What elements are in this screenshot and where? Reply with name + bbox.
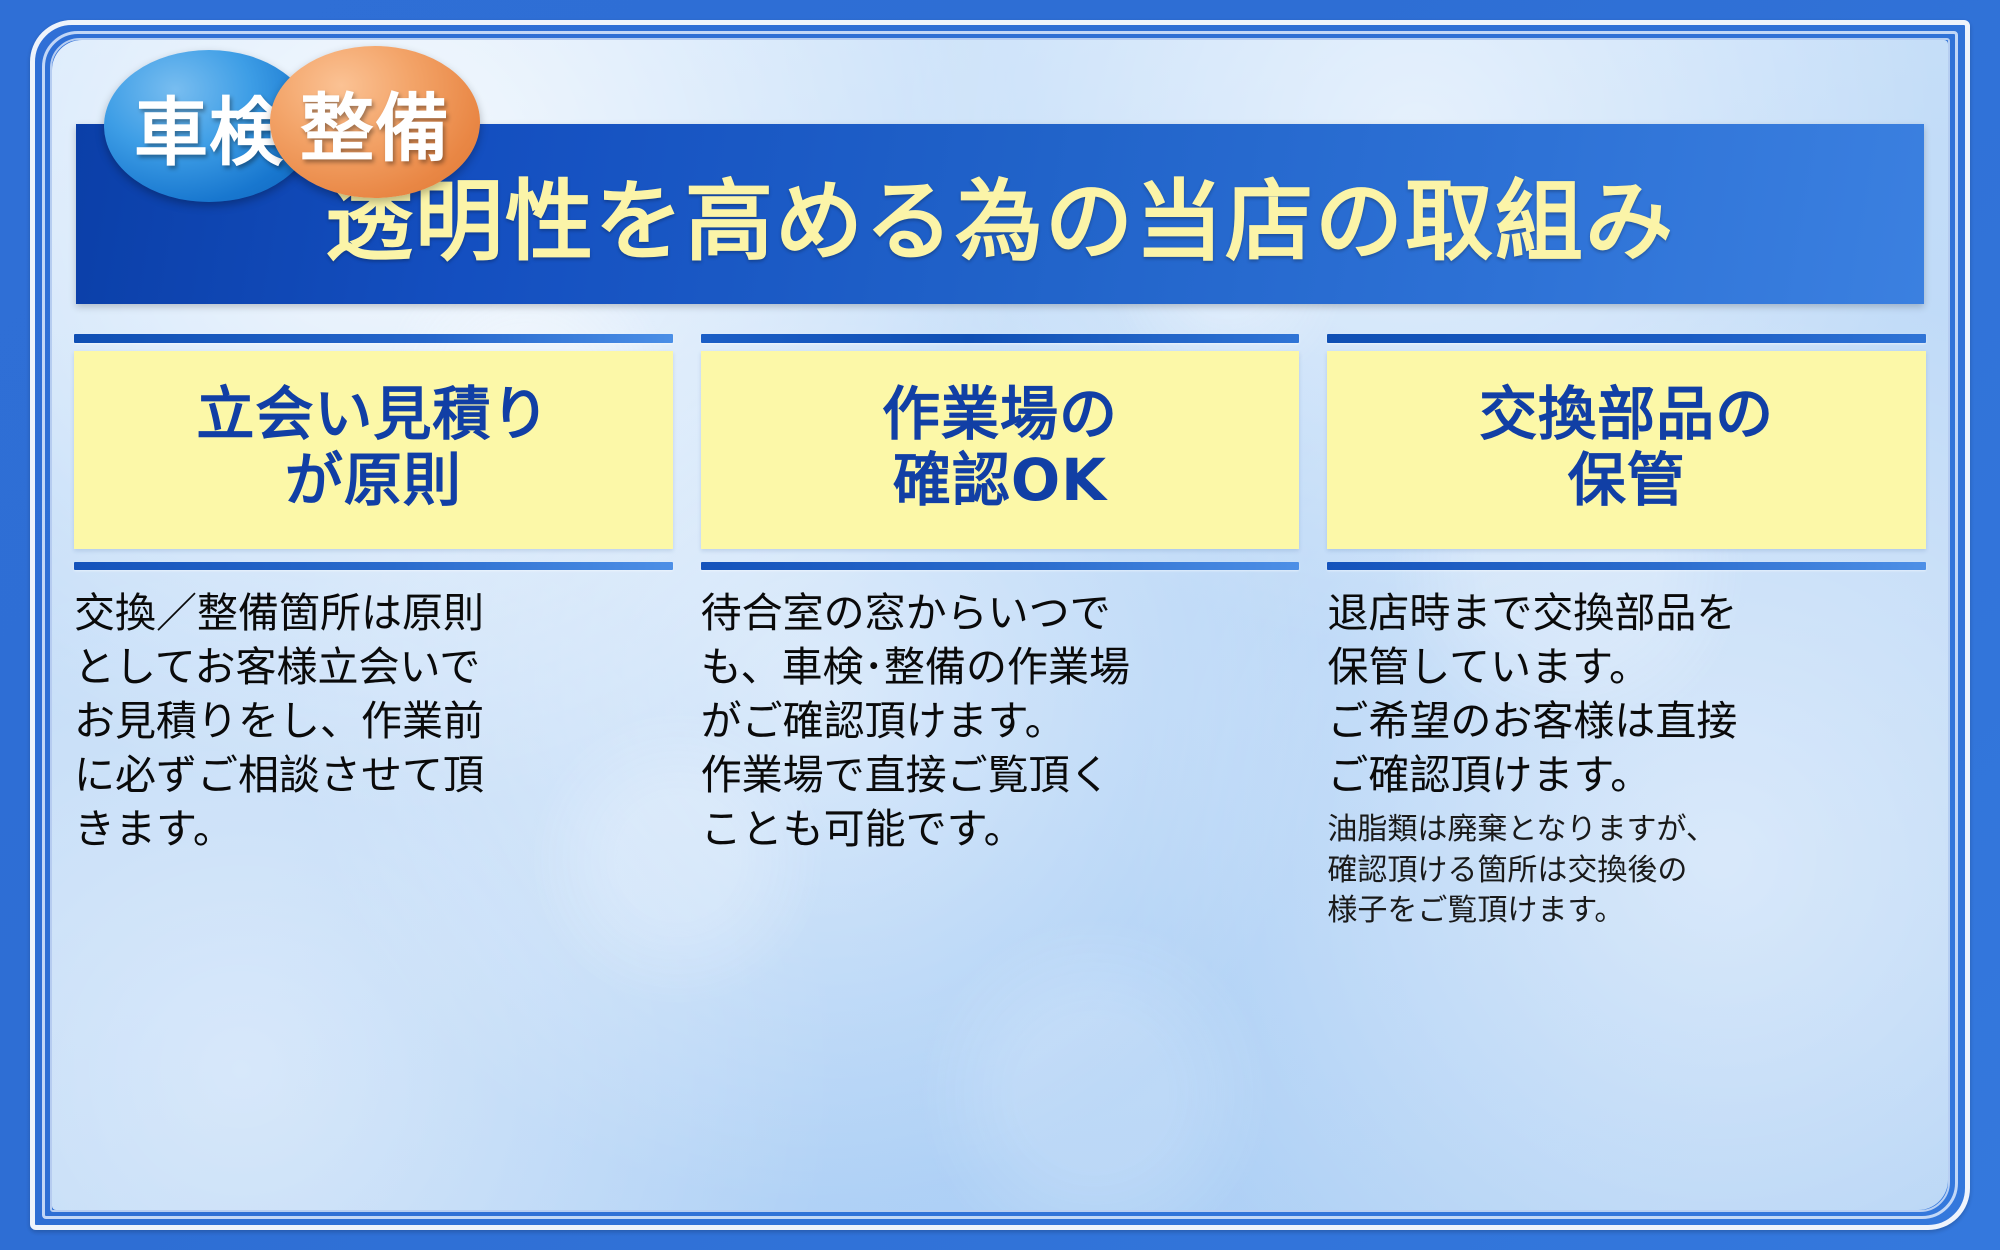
body-line-3-3: ご希望のお客様は直接 [1327, 694, 1926, 748]
poster-root: 透明性を高める為の当店の取組み 車検 整備 立会い見積り が原則 交換／整備箇所… [0, 0, 2000, 1250]
headline-box-1: 立会い見積り が原則 [74, 351, 673, 549]
headline-line-2-2: 確認OK [893, 447, 1107, 513]
body-line-2-1: 待合室の窓からいつで [701, 586, 1300, 640]
body-line-1-4: に必ずご相談させて頂 [74, 748, 673, 802]
body-line-1-5: きます。 [74, 802, 673, 856]
body-line-1-3: お見積りをし、作業前 [74, 694, 673, 748]
badge-seibi-label: 整備 [300, 69, 450, 176]
feature-column-3: 交換部品の 保管 退店時まで交換部品を 保管しています。 ご希望のお客様は直接 … [1313, 322, 1940, 1200]
footnote-line-3-2: 確認頂ける箇所は交換後の [1327, 851, 1926, 891]
headline-line-3-1: 交換部品の [1479, 381, 1774, 447]
headline-line-2-1: 作業場の [882, 381, 1118, 447]
body-line-3-1: 退店時まで交換部品を [1327, 586, 1926, 640]
body-line-2-3: がご確認頂けます。 [701, 694, 1300, 748]
body-text-3: 退店時まで交換部品を 保管しています。 ご希望のお客様は直接 ご確認頂けます。 [1327, 586, 1926, 802]
feature-columns: 立会い見積り が原則 交換／整備箇所は原則 としてお客様立会いで お見積りをし、… [52, 322, 1948, 1210]
headline-line-1-1: 立会い見積り [196, 381, 550, 447]
footnote-line-3-3: 様子をご覧頂けます。 [1327, 891, 1926, 931]
divider-rule-bottom-3 [1327, 562, 1926, 570]
body-text-1: 交換／整備箇所は原則 としてお客様立会いで お見積りをし、作業前 に必ずご相談さ… [74, 586, 673, 857]
divider-rule-top-3 [1327, 334, 1926, 343]
divider-rule-bottom-2 [701, 562, 1300, 570]
body-line-2-2: も、車検･整備の作業場 [701, 640, 1300, 694]
divider-rule-top-1 [74, 334, 673, 343]
body-line-3-4: ご確認頂けます。 [1327, 748, 1926, 802]
page-title: 透明性を高める為の当店の取組み [325, 151, 1675, 278]
body-line-2-5: ことも可能です。 [701, 802, 1300, 856]
badge-shaken-label: 車検 [134, 73, 284, 180]
headline-line-3-2: 保管 [1568, 447, 1686, 513]
headline-box-3: 交換部品の 保管 [1327, 351, 1926, 549]
feature-column-2: 作業場の 確認OK 待合室の窓からいつで も、車検･整備の作業場 がご確認頂けま… [687, 322, 1314, 1200]
badge-seibi: 整備 [270, 46, 480, 198]
footnote-text-3: 油脂類は廃棄となりますが、 確認頂ける箇所は交換後の 様子をご覧頂けます。 [1327, 810, 1926, 931]
footnote-line-3-1: 油脂類は廃棄となりますが、 [1327, 810, 1926, 850]
divider-rule-top-2 [701, 334, 1300, 343]
divider-rule-bottom-1 [74, 562, 673, 570]
body-line-1-1: 交換／整備箇所は原則 [74, 586, 673, 640]
headline-box-2: 作業場の 確認OK [701, 351, 1300, 549]
body-line-1-2: としてお客様立会いで [74, 640, 673, 694]
feature-column-1: 立会い見積り が原則 交換／整備箇所は原則 としてお客様立会いで お見積りをし、… [60, 322, 687, 1200]
headline-line-1-2: が原則 [285, 447, 462, 513]
body-line-2-4: 作業場で直接ご覧頂く [701, 748, 1300, 802]
body-line-3-2: 保管しています。 [1327, 640, 1926, 694]
body-text-2: 待合室の窓からいつで も、車検･整備の作業場 がご確認頂けます。 作業場で直接ご… [701, 586, 1300, 857]
content-panel: 透明性を高める為の当店の取組み 車検 整備 立会い見積り が原則 交換／整備箇所… [52, 40, 1948, 1210]
